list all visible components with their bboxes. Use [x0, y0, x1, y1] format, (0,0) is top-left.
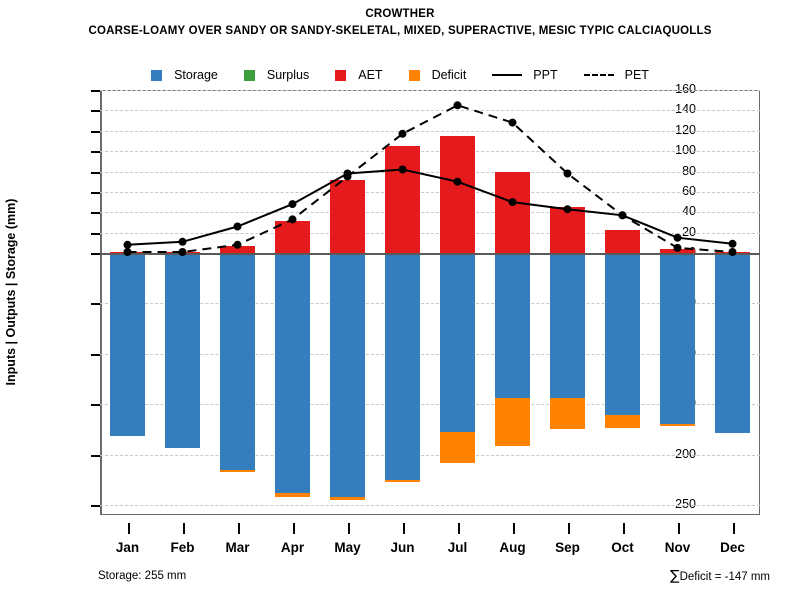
y-upper-160-tick [91, 90, 100, 92]
line-series-group [100, 90, 760, 515]
y-upper-0-tick [91, 253, 100, 255]
ppt-point-sep[interactable] [564, 205, 572, 213]
pet-point-apr[interactable] [289, 215, 297, 223]
water-balance-chart: CROWTHER COARSE-LOAMY OVER SANDY OR SAND… [0, 0, 800, 600]
x-label-jun: Jun [390, 540, 414, 555]
deficit-text: Deficit = -147 mm [680, 571, 770, 583]
deficit-footnote: ∑Deficit = -147 mm [670, 568, 770, 584]
legend-item-storage[interactable]: Storage [151, 68, 218, 82]
y-axis-title: Inputs | Outputs | Storage (mm) [0, 0, 22, 600]
y-lower-50-tick [91, 303, 100, 305]
legend-swatch-aet-icon [335, 70, 346, 81]
x-label-dec: Dec [720, 540, 745, 555]
pet-point-sep[interactable] [564, 170, 572, 178]
legend-swatch-storage-icon [151, 70, 162, 81]
title-line-2: COARSE-LOAMY OVER SANDY OR SANDY-SKELETA… [0, 23, 800, 40]
legend-item-deficit[interactable]: Deficit [409, 68, 467, 82]
x-label-feb: Feb [170, 540, 194, 555]
pet-point-jan[interactable] [124, 248, 132, 256]
legend-line-ppt-icon [492, 74, 522, 76]
ppt-point-feb[interactable] [179, 238, 187, 246]
x-label-oct: Oct [611, 540, 634, 555]
x-label-apr: Apr [281, 540, 304, 555]
pet-point-nov[interactable] [674, 244, 682, 252]
chart-title: CROWTHER COARSE-LOAMY OVER SANDY OR SAND… [0, 6, 800, 40]
ppt-point-oct[interactable] [619, 211, 627, 219]
y-lower-100-tick [91, 354, 100, 356]
x-label-may: May [334, 540, 360, 555]
pet-point-jul[interactable] [454, 101, 462, 109]
legend-swatch-deficit-icon [409, 70, 420, 81]
sigma-symbol: ∑ [670, 568, 679, 584]
ppt-point-jul[interactable] [454, 178, 462, 186]
x-tick-aug [513, 523, 515, 534]
pet-line [128, 105, 733, 252]
x-tick-jun [403, 523, 405, 534]
x-tick-sep [568, 523, 570, 534]
pet-point-feb[interactable] [179, 248, 187, 256]
x-tick-feb [183, 523, 185, 534]
y-lower-200-tick [91, 455, 100, 457]
x-label-jul: Jul [448, 540, 468, 555]
y-lower-150-tick [91, 404, 100, 406]
legend-label: PET [625, 68, 649, 82]
y-upper-40-tick [91, 212, 100, 214]
legend-label: Storage [174, 68, 218, 82]
x-tick-apr [293, 523, 295, 534]
ppt-point-nov[interactable] [674, 234, 682, 242]
y-upper-120-tick [91, 131, 100, 133]
y-upper-100-tick [91, 151, 100, 153]
legend-item-surplus[interactable]: Surplus [244, 68, 309, 82]
storage-footnote: Storage: 255 mm [98, 570, 186, 582]
x-tick-dec [733, 523, 735, 534]
pet-point-aug[interactable] [509, 119, 517, 127]
x-label-nov: Nov [665, 540, 691, 555]
x-tick-jul [458, 523, 460, 534]
legend-swatch-surplus-icon [244, 70, 255, 81]
x-tick-jan [128, 523, 130, 534]
y-upper-140-tick [91, 110, 100, 112]
x-label-sep: Sep [555, 540, 580, 555]
legend-line-pet-icon [584, 74, 614, 76]
y-upper-60-tick [91, 192, 100, 194]
x-tick-nov [678, 523, 680, 534]
x-label-mar: Mar [225, 540, 249, 555]
ppt-point-dec[interactable] [729, 240, 737, 248]
x-tick-mar [238, 523, 240, 534]
plot-area [100, 90, 760, 515]
title-line-1: CROWTHER [0, 6, 800, 23]
legend-label: PPT [533, 68, 557, 82]
x-label-aug: Aug [499, 540, 525, 555]
ppt-point-mar[interactable] [234, 223, 242, 231]
ppt-line [128, 170, 733, 245]
ppt-point-apr[interactable] [289, 200, 297, 208]
ppt-point-aug[interactable] [509, 198, 517, 206]
ppt-point-jun[interactable] [399, 166, 407, 174]
legend-item-ppt[interactable]: PPT [492, 68, 557, 82]
legend-label: Deficit [432, 68, 467, 82]
pet-point-mar[interactable] [234, 241, 242, 249]
x-axis-ticks [100, 515, 760, 531]
x-tick-oct [623, 523, 625, 534]
x-label-jan: Jan [116, 540, 139, 555]
y-upper-80-tick [91, 172, 100, 174]
legend-item-aet[interactable]: AET [335, 68, 382, 82]
chart-legend: StorageSurplusAETDeficitPPTPET [0, 68, 800, 82]
y-lower-250-tick [91, 505, 100, 507]
legend-label: AET [358, 68, 382, 82]
legend-label: Surplus [267, 68, 309, 82]
y-upper-20-tick [91, 233, 100, 235]
x-axis-labels: JanFebMarAprMayJunJulAugSepOctNovDec [100, 540, 760, 558]
ppt-point-may[interactable] [344, 170, 352, 178]
pet-point-jun[interactable] [399, 130, 407, 138]
pet-point-dec[interactable] [729, 248, 737, 256]
x-tick-may [348, 523, 350, 534]
ppt-point-jan[interactable] [124, 241, 132, 249]
legend-item-pet[interactable]: PET [584, 68, 649, 82]
